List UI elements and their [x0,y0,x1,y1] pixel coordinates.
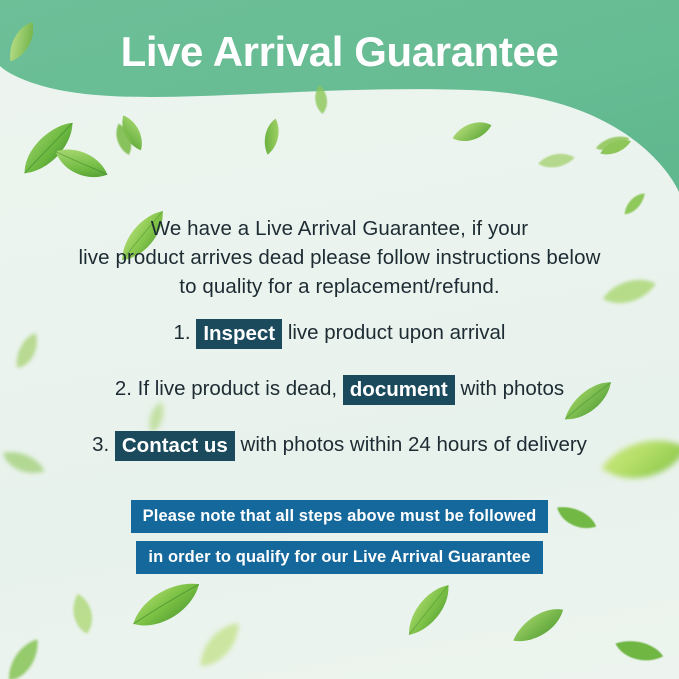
step-highlight-document: document [343,375,455,405]
step-number: 1. [174,321,191,344]
step-number: 2. [115,377,132,400]
note-banner-line-2: in order to qualify for our Live Arrival… [136,541,542,574]
step-text-after: live product upon arrival [288,321,506,344]
note-row: in order to qualify for our Live Arrival… [0,541,679,574]
steps-list: 1. Inspect live product upon arrival 2. … [0,318,679,486]
intro-line-3: to quality for a replacement/refund. [58,272,621,301]
intro-line-2: live product arrives dead please follow … [58,243,621,272]
step-text-after: with photos within 24 hours of delivery [241,433,587,456]
intro-paragraph: We have a Live Arrival Guarantee, if you… [58,214,621,301]
live-arrival-guarantee-poster: Live Arrival Guarantee We have a Live Ar… [0,0,679,679]
list-item: 1. Inspect live product upon arrival [0,318,679,349]
note-banner-line-1: Please note that all steps above must be… [131,500,549,533]
step-highlight-contact-us[interactable]: Contact us [115,431,235,461]
list-item: 3. Contact us with photos within 24 hour… [0,430,679,461]
poster-content: Live Arrival Guarantee We have a Live Ar… [0,0,679,679]
step-text-before: If live product is dead, [138,377,337,400]
note-row: Please note that all steps above must be… [0,500,679,533]
list-item: 2. If live product is dead, document wit… [0,374,679,405]
step-text-after: with photos [460,377,564,400]
intro-line-1: We have a Live Arrival Guarantee, if you… [58,214,621,243]
page-title: Live Arrival Guarantee [0,28,679,76]
footer-notes: Please note that all steps above must be… [0,500,679,574]
step-number: 3. [92,433,109,456]
step-highlight-inspect: Inspect [196,319,282,349]
